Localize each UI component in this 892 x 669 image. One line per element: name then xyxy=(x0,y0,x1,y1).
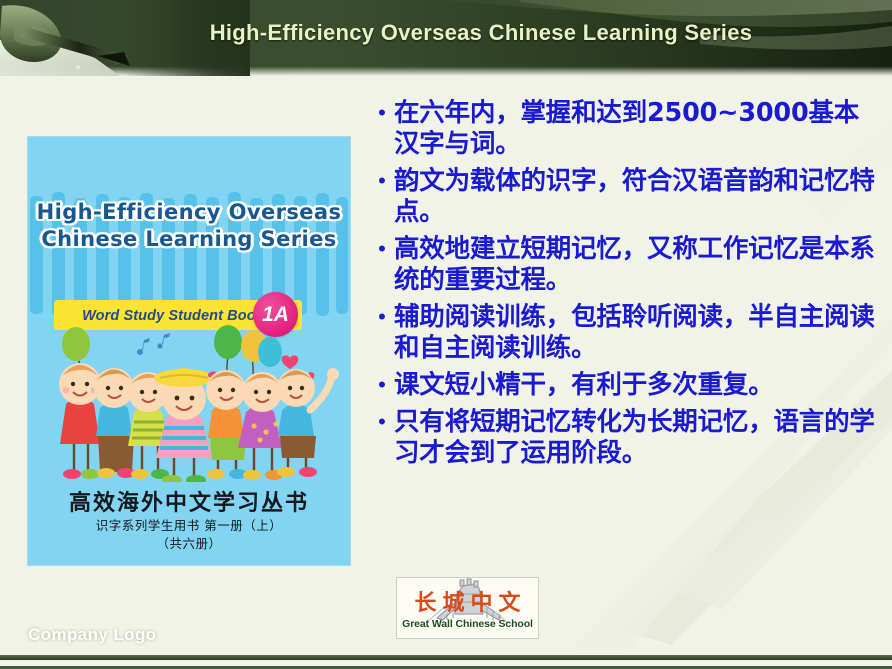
cover-title-line2: Chinese Learning Series xyxy=(28,226,350,253)
cartoon-children-illustration xyxy=(38,322,340,482)
cover-title: High-Efficiency Overseas Chinese Learnin… xyxy=(28,199,350,253)
cover-chinese-title: 高效海外中文学习丛书 xyxy=(28,485,350,517)
cover-chinese-subtitle-2: （共六册） xyxy=(28,533,350,552)
slide-root: High-Efficiency Overseas Chinese Learnin… xyxy=(0,0,892,669)
list-item: • 高效地建立短期记忆，又称工作记忆是本系统的重要过程。 xyxy=(370,234,882,296)
list-item: • 韵文为载体的识字，符合汉语音韵和记忆特点。 xyxy=(370,166,882,228)
school-logo: 长城中文 Great Wall Chinese School xyxy=(396,577,539,639)
list-item: • 辅助阅读训练，包括聆听阅读，半自主阅读和自主阅读训练。 xyxy=(370,302,882,364)
bullet-list: • 在六年内，掌握和达到2500~3000基本汉字与词。 • 韵文为载体的识字，… xyxy=(370,98,882,475)
bullet-marker-icon: • xyxy=(370,234,394,264)
cover-title-line1: High-Efficiency Overseas xyxy=(28,199,350,226)
company-logo-placeholder: Company Logo xyxy=(28,625,157,645)
logo-english-name: Great Wall Chinese School xyxy=(397,618,538,630)
bullet-marker-icon: • xyxy=(370,407,394,437)
bullet-text: 只有将短期记忆转化为长期记忆，语言的学习才会到了运用阶段。 xyxy=(394,407,882,469)
bullet-marker-icon: • xyxy=(370,166,394,196)
bullet-text: 在六年内，掌握和达到2500~3000基本汉字与词。 xyxy=(394,98,882,160)
book-cover-image: High-Efficiency Overseas Chinese Learnin… xyxy=(28,137,350,565)
list-item: • 课文短小精干，有利于多次重复。 xyxy=(370,370,882,401)
logo-chinese-name: 长城中文 xyxy=(397,585,538,617)
bullet-text: 辅助阅读训练，包括聆听阅读，半自主阅读和自主阅读训练。 xyxy=(394,302,882,364)
bullet-marker-icon: • xyxy=(370,98,394,128)
list-item: • 只有将短期记忆转化为长期记忆，语言的学习才会到了运用阶段。 xyxy=(370,407,882,469)
bullet-marker-icon: • xyxy=(370,370,394,400)
header-banner: High-Efficiency Overseas Chinese Learnin… xyxy=(0,0,892,76)
bullet-text: 高效地建立短期记忆，又称工作记忆是本系统的重要过程。 xyxy=(394,234,882,296)
bullet-marker-icon: • xyxy=(370,302,394,332)
list-item: • 在六年内，掌握和达到2500~3000基本汉字与词。 xyxy=(370,98,882,160)
page-title: High-Efficiency Overseas Chinese Learnin… xyxy=(0,0,892,66)
bullet-text: 韵文为载体的识字，符合汉语音韵和记忆特点。 xyxy=(394,166,882,228)
bullet-text: 课文短小精干，有利于多次重复。 xyxy=(394,370,882,401)
cover-chinese-subtitle-1: 识字系列学生用书 第一册（上） xyxy=(28,515,350,534)
